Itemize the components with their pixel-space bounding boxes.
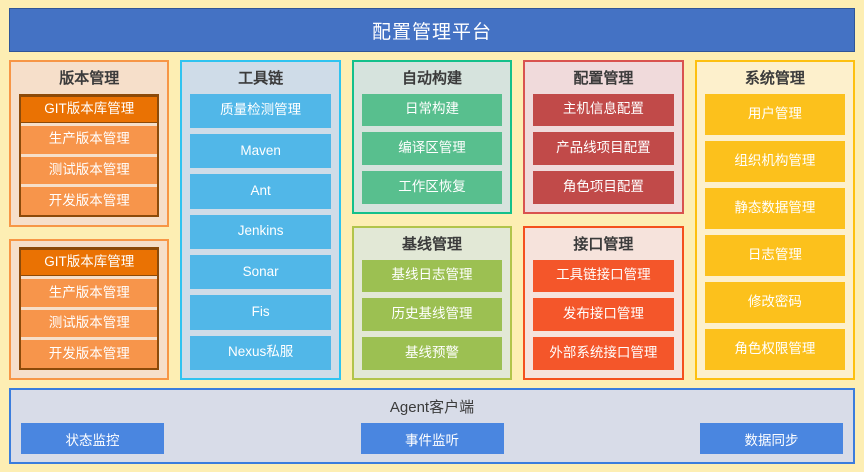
spacer: [504, 423, 701, 454]
item-baseline-alert[interactable]: 基线预警: [362, 337, 502, 370]
column-build-baseline: 自动构建 日常构建 编译区管理 工作区恢复 基线管理 基线日志管理 历史基线管理…: [352, 60, 512, 380]
column-config-interface: 配置管理 主机信息配置 产品线项目配置 角色项目配置 接口管理 工具链接口管理 …: [523, 60, 683, 380]
event-listening-button[interactable]: 事件监听: [361, 423, 504, 454]
item-dev-version-management[interactable]: 开发版本管理: [21, 187, 157, 215]
card-title: 配置管理: [533, 68, 673, 94]
item-list: 日常构建 编译区管理 工作区恢复: [362, 94, 502, 205]
item-maven[interactable]: Maven: [190, 134, 330, 168]
item-list: 基线日志管理 历史基线管理 基线预警: [362, 260, 502, 371]
card-config-management: 配置管理 主机信息配置 产品线项目配置 角色项目配置: [523, 60, 683, 214]
item-nexus-private-server[interactable]: Nexus私服: [190, 336, 330, 370]
card-interface-management: 接口管理 工具链接口管理 发布接口管理 外部系统接口管理: [523, 226, 683, 380]
status-monitoring-button[interactable]: 状态监控: [21, 423, 164, 454]
item-organization-management[interactable]: 组织机构管理: [705, 141, 845, 182]
item-list: 质量检测管理 Maven Ant Jenkins Sonar Fis Nexus…: [190, 94, 330, 371]
item-role-project-config[interactable]: 角色项目配置: [533, 171, 673, 204]
item-git-repo-management[interactable]: GIT版本库管理: [21, 96, 157, 124]
item-ant[interactable]: Ant: [190, 174, 330, 208]
item-host-info-config[interactable]: 主机信息配置: [533, 94, 673, 127]
card-title: 自动构建: [362, 68, 502, 94]
item-log-management[interactable]: 日志管理: [705, 235, 845, 276]
columns-region: 版本管理 GIT版本库管理 生产版本管理 测试版本管理 开发版本管理 GIT版本…: [9, 60, 855, 380]
card-system-management: 系统管理 用户管理 组织机构管理 静态数据管理 日志管理 修改密码 角色权限管理: [695, 60, 855, 380]
card-version-management-2: GIT版本库管理 生产版本管理 测试版本管理 开发版本管理: [9, 239, 169, 380]
data-sync-button[interactable]: 数据同步: [700, 423, 843, 454]
item-dev-version-management[interactable]: 开发版本管理: [21, 340, 157, 368]
card-auto-build: 自动构建 日常构建 编译区管理 工作区恢复: [352, 60, 512, 214]
item-historical-baseline-management[interactable]: 历史基线管理: [362, 298, 502, 331]
item-user-management[interactable]: 用户管理: [705, 94, 845, 135]
item-fis[interactable]: Fis: [190, 295, 330, 329]
card-title: 接口管理: [533, 234, 673, 260]
page-title: 配置管理平台: [9, 8, 855, 52]
item-sonar[interactable]: Sonar: [190, 255, 330, 289]
item-list: 主机信息配置 产品线项目配置 角色项目配置: [533, 94, 673, 205]
item-external-system-interface-management[interactable]: 外部系统接口管理: [533, 337, 673, 370]
item-production-version-management[interactable]: 生产版本管理: [21, 126, 157, 154]
item-list: 工具链接口管理 发布接口管理 外部系统接口管理: [533, 260, 673, 371]
item-list: 用户管理 组织机构管理 静态数据管理 日志管理 修改密码 角色权限管理: [705, 94, 845, 371]
item-list: GIT版本库管理 生产版本管理 测试版本管理 开发版本管理: [19, 94, 159, 217]
card-title: 工具链: [190, 68, 330, 94]
column-system-management: 系统管理 用户管理 组织机构管理 静态数据管理 日志管理 修改密码 角色权限管理: [695, 60, 855, 380]
item-list: GIT版本库管理 生产版本管理 测试版本管理 开发版本管理: [19, 247, 159, 370]
card-toolchain: 工具链 质量检测管理 Maven Ant Jenkins Sonar Fis N…: [180, 60, 340, 380]
item-production-version-management[interactable]: 生产版本管理: [21, 279, 157, 307]
card-title: 版本管理: [19, 68, 159, 94]
config-management-platform-diagram: 配置管理平台 版本管理 GIT版本库管理 生产版本管理 测试版本管理 开发版本管…: [0, 0, 864, 472]
item-git-repo-management[interactable]: GIT版本库管理: [21, 249, 157, 277]
card-version-management-1: 版本管理 GIT版本库管理 生产版本管理 测试版本管理 开发版本管理: [9, 60, 169, 227]
item-compile-area-management[interactable]: 编译区管理: [362, 132, 502, 165]
card-baseline-management: 基线管理 基线日志管理 历史基线管理 基线预警: [352, 226, 512, 380]
item-change-password[interactable]: 修改密码: [705, 282, 845, 323]
item-static-data-management[interactable]: 静态数据管理: [705, 188, 845, 229]
card-title: 系统管理: [705, 68, 845, 94]
item-role-permission-management[interactable]: 角色权限管理: [705, 329, 845, 370]
item-baseline-log-management[interactable]: 基线日志管理: [362, 260, 502, 293]
spacer: [164, 423, 361, 454]
agent-client-section: Agent客户端 状态监控 事件监听 数据同步: [9, 388, 855, 464]
item-test-version-management[interactable]: 测试版本管理: [21, 157, 157, 185]
item-workspace-recovery[interactable]: 工作区恢复: [362, 171, 502, 204]
item-toolchain-interface-management[interactable]: 工具链接口管理: [533, 260, 673, 293]
item-product-line-project-config[interactable]: 产品线项目配置: [533, 132, 673, 165]
column-version-management: 版本管理 GIT版本库管理 生产版本管理 测试版本管理 开发版本管理 GIT版本…: [9, 60, 169, 380]
item-daily-build[interactable]: 日常构建: [362, 94, 502, 127]
column-toolchain: 工具链 质量检测管理 Maven Ant Jenkins Sonar Fis N…: [180, 60, 340, 380]
item-release-interface-management[interactable]: 发布接口管理: [533, 298, 673, 331]
agent-client-title: Agent客户端: [21, 394, 843, 423]
item-quality-inspection-management[interactable]: 质量检测管理: [190, 94, 330, 128]
item-jenkins[interactable]: Jenkins: [190, 215, 330, 249]
card-title: 基线管理: [362, 234, 502, 260]
agent-client-buttons: 状态监控 事件监听 数据同步: [21, 423, 843, 454]
item-test-version-management[interactable]: 测试版本管理: [21, 310, 157, 338]
